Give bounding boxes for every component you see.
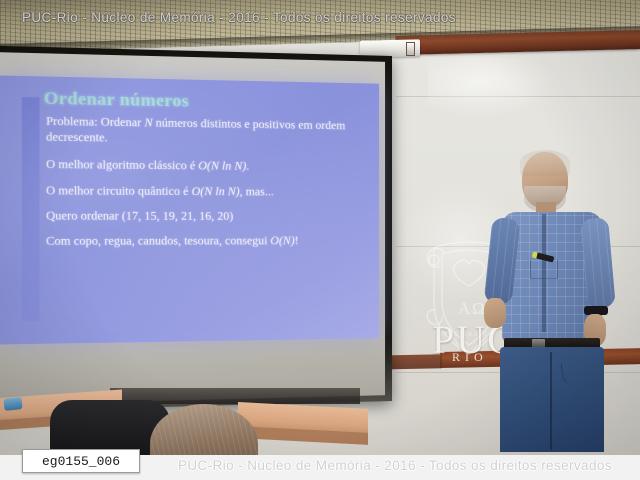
slide-body: Problema: Ordenar N números distintos e … (46, 114, 373, 259)
slide-title: Ordenar números (44, 88, 189, 112)
slide-line-classic-text-a: O melhor algoritmo clássico é (46, 159, 198, 173)
slide-accent-bar (22, 97, 40, 321)
presenter-figure (484, 152, 624, 452)
slide-line-problem-text-a: Problema: Ordenar (46, 115, 144, 129)
desk-blue-object (3, 397, 22, 411)
watermark-top: PUC-Rio - Núcleo de Memória - 2016 - Tod… (22, 10, 456, 25)
image-id-label: eg0155_006 (22, 449, 140, 473)
slide-line-result-text-b: ! (295, 235, 299, 247)
presenter-shirt-pocket (530, 260, 558, 279)
presenter-jeans-seam (550, 352, 552, 450)
presenter-hair (520, 150, 570, 176)
slide-line-quantum-text-b: , mas... (240, 186, 274, 198)
slide-line-quantum-circuit: O melhor circuito quântico é O(N ln N), … (46, 183, 373, 200)
presenter-left-hand (484, 298, 506, 328)
slide-line-sequence: Quero ordenar (17, 15, 19, 21, 16, 20) (46, 209, 373, 225)
projection-screen: Ordenar números Problema: Ordenar N núme… (0, 45, 392, 411)
slide-line-classic-complexity: O(N ln N) (198, 160, 246, 173)
presenter-jeans-pocket (561, 360, 591, 386)
slide-line-result-complexity: O(N) (270, 235, 294, 247)
projection-screen-surface: Ordenar números Problema: Ordenar N núme… (0, 52, 385, 405)
watermark-bottom: PUC-Rio - Núcleo de Memória - 2016 - Tod… (178, 458, 612, 473)
slide-line-quantum-text-a: O melhor circuito quântico é (46, 184, 191, 197)
slide-line-result: Com copo, regua, canudos, tesoura, conse… (46, 234, 373, 250)
puc-wordmark-subtitle: RIO (452, 350, 488, 365)
slide-line-classic-text-b: . (246, 161, 249, 173)
wall-glare-highlight (428, 58, 556, 118)
screen-housing-bracket (406, 42, 415, 56)
slide-line-result-text-a: Com copo, regua, canudos, tesoura, conse… (46, 235, 270, 248)
slide-line-classic-algorithm: O melhor algoritmo clássico é O(N ln N). (46, 158, 373, 177)
slide-line-problem: Problema: Ordenar N números distintos e … (46, 114, 373, 150)
presentation-slide: Ordenar números Problema: Ordenar N núme… (0, 75, 379, 344)
slide-line-quantum-complexity: O(N ln N) (192, 185, 240, 198)
presenter-jeans (500, 347, 604, 452)
photograph: Α Ω SINE GRAVI PUC RIO Ordenar números P… (0, 0, 640, 480)
